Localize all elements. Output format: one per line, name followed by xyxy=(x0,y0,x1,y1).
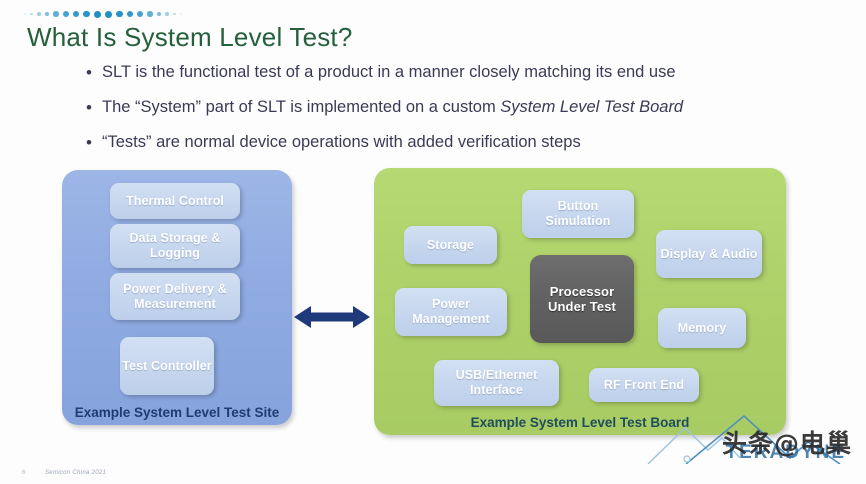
decorative-dot xyxy=(137,11,143,17)
block-label: Data Storage & Logging xyxy=(112,231,238,261)
decorative-dot xyxy=(94,11,101,18)
decorative-dot xyxy=(105,11,112,18)
decorative-dot xyxy=(24,13,26,15)
bullet-item-2: •The “System” part of SLT is implemented… xyxy=(86,97,856,118)
left-panel-test-site: Thermal ControlData Storage & LoggingPow… xyxy=(62,170,292,425)
bullet-item-1: •SLT is the functional test of a product… xyxy=(86,62,856,83)
test-board-block-storage: Storage xyxy=(404,226,497,264)
block-label: Storage xyxy=(427,238,474,253)
block-label: Memory xyxy=(678,321,727,336)
block-label: USB/Ethernet Interface xyxy=(436,368,557,398)
bullet-emphasis: System Level Test Board xyxy=(500,98,683,116)
bullet-marker-icon: • xyxy=(86,97,102,118)
bullet-marker-icon: • xyxy=(86,132,102,153)
decorative-dot xyxy=(73,11,80,18)
presentation-slide: What Is System Level Test? •SLT is the f… xyxy=(0,0,866,484)
block-label: Display & Audio xyxy=(661,247,758,262)
test-board-block-button-simulation: Button Simulation xyxy=(522,190,634,238)
slide-number: 6 xyxy=(22,470,25,476)
decorative-dot xyxy=(180,13,182,15)
block-label: Thermal Control xyxy=(126,194,224,209)
decorative-dot xyxy=(37,12,41,16)
test-site-block-thermal-control: Thermal Control xyxy=(110,183,240,219)
right-panel-test-board: StorageButton SimulationDisplay & AudioP… xyxy=(374,168,786,435)
block-label: RF Front End xyxy=(604,378,684,393)
bullet-text: The “System” part of SLT is implemented … xyxy=(102,97,683,118)
decorative-dot xyxy=(127,11,134,18)
test-site-block-test-controller: Test Controller xyxy=(120,337,214,395)
block-label: Processor Under Test xyxy=(532,284,632,314)
decorative-dot xyxy=(173,13,176,16)
test-board-block-memory: Memory xyxy=(658,308,746,348)
block-label: Power Delivery & Measurement xyxy=(112,282,238,312)
left-panel-label: Example System Level Test Site xyxy=(62,405,292,420)
test-site-block-data-storage-logging: Data Storage & Logging xyxy=(110,224,240,268)
bullet-marker-icon: • xyxy=(86,62,102,83)
decorative-dot xyxy=(45,12,50,17)
test-board-block-power-management: Power Management xyxy=(395,288,507,336)
bullet-text: SLT is the functional test of a product … xyxy=(102,62,676,83)
test-site-block-power-delivery-measurement: Power Delivery & Measurement xyxy=(110,273,240,320)
block-label: Test Controller xyxy=(122,359,211,374)
bullet-list: •SLT is the functional test of a product… xyxy=(86,62,856,167)
decorative-dot xyxy=(147,11,152,16)
decorative-dot xyxy=(157,12,162,17)
footer-note: Semicon China 2021 xyxy=(45,470,106,476)
test-board-block-display-audio: Display & Audio xyxy=(656,230,762,278)
decorative-dot-strip xyxy=(24,8,182,20)
bullet-text: “Tests” are normal device operations wit… xyxy=(102,132,581,153)
decorative-dot xyxy=(53,11,58,16)
bullet-item-3: •“Tests” are normal device operations wi… xyxy=(86,132,856,153)
page-title: What Is System Level Test? xyxy=(27,22,353,53)
test-board-block-rf-front-end: RF Front End xyxy=(589,368,699,402)
decorative-dot xyxy=(83,11,90,18)
decorative-dot xyxy=(30,13,33,16)
block-label: Power Management xyxy=(397,297,505,327)
block-label: Button Simulation xyxy=(524,199,632,229)
decorative-dot xyxy=(63,11,69,17)
decorative-dot xyxy=(165,12,169,16)
test-board-block-usb-ethernet-interface: USB/Ethernet Interface xyxy=(434,360,559,406)
test-board-block-processor-under-test: Processor Under Test xyxy=(530,255,634,343)
watermark-text: 头条@电巢 xyxy=(722,424,852,460)
bidirectional-arrow xyxy=(294,303,370,331)
decorative-dot xyxy=(116,11,123,18)
